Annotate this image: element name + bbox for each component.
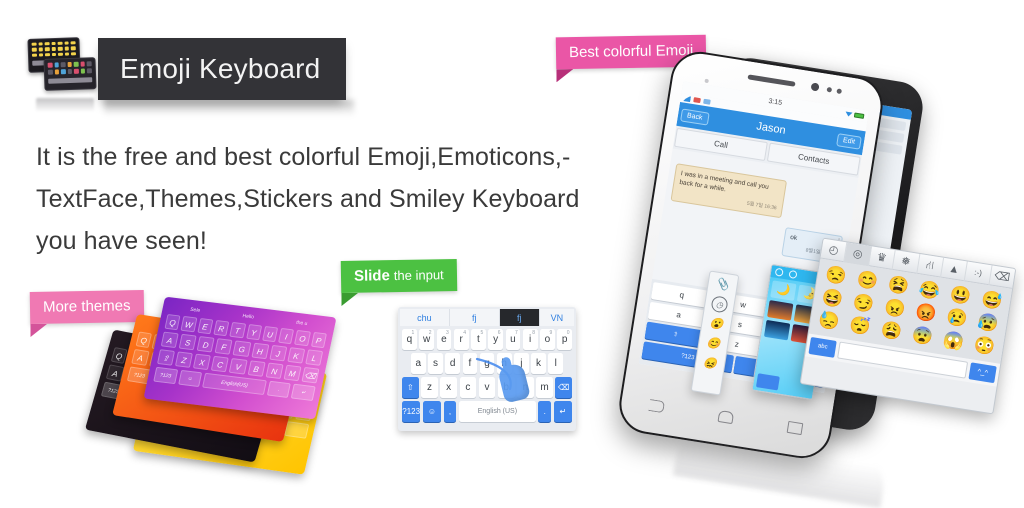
suggestion-vn[interactable]: VN (540, 309, 574, 326)
theme-key[interactable]: J (269, 345, 287, 362)
theme-key[interactable]: ↵ (291, 384, 316, 401)
theme-key[interactable]: G (233, 340, 251, 357)
ribbon-slide-the-input: Slide the input (341, 259, 457, 293)
sticker-abc-button[interactable] (756, 373, 780, 390)
theme-key[interactable]: H (251, 343, 269, 360)
key-i[interactable]: 8i (523, 329, 538, 350)
emoji-cell[interactable]: 😊 (850, 268, 884, 295)
triangle-icon[interactable]: ▲ (941, 257, 968, 281)
suggestion-bar: chu fj fj VN (400, 309, 574, 326)
theme-key[interactable]: ☺ (178, 370, 203, 387)
clock-icon[interactable]: ◷ (710, 295, 728, 313)
key-label: t (477, 334, 480, 345)
abc-button[interactable]: abc (808, 337, 836, 358)
theme-key[interactable]: D (197, 336, 215, 353)
emoji-keyboard-panel[interactable]: ◴ ◎ ♛ ❅ ⛙ ▲ :-) ⌫ 😒 😊 😫 😂 😃 😅 😆 😏 😠 😡 😢 … (800, 238, 1017, 415)
key-l[interactable]: l (548, 353, 563, 374)
theme-key[interactable]: F (215, 338, 233, 355)
surprised-emoji-icon[interactable]: 😮 (707, 315, 725, 333)
recent-clock-icon[interactable]: ◴ (821, 238, 848, 262)
key-number: 3 (446, 330, 449, 336)
key-number: 6 (498, 330, 501, 336)
emoji-cell[interactable]: 😫 (882, 273, 916, 300)
key-o[interactable]: 9o (540, 329, 555, 350)
theme-key[interactable]: O (294, 330, 310, 346)
theme-key[interactable]: R (213, 320, 229, 336)
key-y[interactable]: 6y (488, 329, 503, 350)
home-nav-button[interactable] (717, 410, 734, 424)
ribbon-tail-icon (30, 324, 47, 337)
ribbon-tail-icon (341, 293, 358, 306)
key-number: 1 (411, 330, 414, 336)
promo-banner: Emoji Keyboard It is the free and best c… (0, 0, 1024, 500)
edit-button[interactable]: Edit (836, 133, 862, 150)
description-line-1: It is the free and best colorful Emoji,E… (36, 136, 636, 178)
description-block: It is the free and best colorful Emoji,E… (36, 136, 636, 262)
key-w[interactable]: 2w (419, 329, 434, 350)
page-title-text: Emoji Keyboard (120, 53, 320, 85)
ribbon-slide-label-sub: the input (394, 267, 444, 283)
theme-key[interactable]: A (131, 349, 150, 366)
key-a[interactable]: a (411, 353, 426, 374)
key-z[interactable]: z (421, 377, 438, 398)
ribbon-tail-icon (556, 69, 573, 82)
key-f[interactable]: f (463, 353, 478, 374)
period-key[interactable]: . (538, 401, 551, 422)
emoji-cell[interactable]: 😨 (906, 323, 940, 350)
emoji-cell[interactable]: 😠 (878, 295, 912, 322)
key-k[interactable]: k (531, 353, 546, 374)
emoji-cell[interactable]: 😰 (971, 310, 1005, 337)
ribbon-slide-label-main: Slide (354, 267, 390, 285)
emoji-cell[interactable]: 😴 (843, 313, 877, 340)
key-x[interactable]: x (440, 377, 457, 398)
key-number: 5 (480, 330, 483, 336)
theme-key[interactable]: E (197, 318, 213, 334)
theme-key[interactable]: P (311, 332, 327, 348)
sticker-cell-image[interactable] (764, 320, 790, 341)
message-text: ok (790, 234, 798, 242)
app-icon-keyboard-front (43, 57, 96, 91)
key-s[interactable]: s (428, 353, 443, 374)
emoji-cell[interactable]: 😒 (819, 263, 853, 290)
message-bubble-incoming: I was in a meeting and call you back for… (670, 163, 787, 218)
theme-key[interactable]: I (278, 328, 294, 344)
key-e[interactable]: 3e (437, 329, 452, 350)
notification-led (704, 79, 709, 84)
confounded-emoji-icon[interactable]: 😖 (701, 354, 719, 372)
theme-key[interactable]: V (229, 358, 247, 375)
smiley-face-icon[interactable]: ◎ (845, 242, 872, 266)
snowflake-icon[interactable]: ❅ (893, 250, 920, 274)
theme-suggestion: the u (296, 320, 308, 327)
message-text: I was in a meeting and call you back for… (679, 170, 769, 193)
page-title: Emoji Keyboard (98, 38, 346, 100)
front-camera-icon (811, 82, 820, 91)
theme-key[interactable]: N (265, 362, 283, 379)
theme-key[interactable]: U (262, 326, 278, 342)
theme-key[interactable]: T (229, 322, 245, 338)
theme-key[interactable]: Z (175, 351, 193, 368)
send-button[interactable]: ^_^ (968, 362, 996, 383)
key-r[interactable]: 4r (454, 329, 469, 350)
backspace-icon[interactable]: ⌫ (989, 265, 1015, 288)
theme-key[interactable]: W (181, 316, 197, 332)
suggestion-fj-selected[interactable]: fj (500, 309, 540, 326)
theme-key[interactable]: Y (246, 324, 262, 340)
description-line-2: TextFace,Themes,Stickers and Smiley Keyb… (36, 178, 636, 220)
theme-key[interactable]: L (305, 349, 323, 366)
smile-emoji-icon[interactable]: 😊 (704, 335, 722, 353)
key-number: 9 (549, 330, 552, 336)
slide-input-keyboard[interactable]: chu fj fj VN 1q 2w 3e 4r 5t 6y 7u 8i 9o … (398, 307, 576, 431)
key-number: 4 (463, 330, 466, 336)
emoji-cell[interactable]: 😱 (937, 328, 971, 355)
backspace-key[interactable]: ⌫ (555, 377, 572, 398)
emoji-cell[interactable]: 😓 (812, 308, 846, 335)
emoji-cell[interactable]: 😅 (975, 288, 1009, 315)
theme-key[interactable]: ⌫ (301, 367, 319, 384)
comma-key[interactable]: , (444, 401, 457, 422)
emoji-cell[interactable]: 😢 (940, 305, 974, 332)
smiley-tab-icon[interactable] (788, 270, 797, 279)
theme-key[interactable]: ?123 (153, 367, 178, 384)
status-bar-time: 3:15 (768, 97, 783, 106)
theme-key[interactable]: A (161, 332, 179, 349)
emoji-cell[interactable]: 😆 (816, 286, 850, 313)
recents-nav-button[interactable] (786, 421, 803, 435)
theme-key[interactable]: Q (136, 331, 153, 348)
sticker-cell[interactable]: 🌙 (770, 280, 796, 301)
emoji-cell[interactable]: 😂 (913, 278, 947, 305)
key-number: 0 (567, 330, 570, 336)
key-c[interactable]: c (460, 377, 477, 398)
purple-theme-keyboard[interactable]: Sele Hello the u Q W E R T Y U I O P (144, 297, 337, 420)
theme-suggestion: Hello (242, 313, 255, 320)
ribbon-best-label: Best colorful Emoji (569, 42, 693, 61)
theme-key[interactable]: M (283, 365, 301, 382)
theme-key[interactable]: Q (164, 314, 180, 330)
clock-tab-icon[interactable] (775, 268, 784, 277)
proximity-sensor-icon (826, 87, 832, 93)
earpiece-speaker (747, 74, 795, 86)
car-icon[interactable]: ⛙ (917, 253, 944, 277)
theme-key[interactable]: S (179, 334, 197, 351)
key-p[interactable]: 0p (557, 329, 572, 350)
key-number: 7 (515, 330, 518, 336)
sticker-cell-image[interactable] (767, 300, 793, 321)
key-v[interactable]: v (479, 377, 496, 398)
textface-icon[interactable]: :-) (965, 261, 992, 285)
key-number: 2 (429, 330, 432, 336)
light-sensor-icon (836, 88, 842, 94)
theme-key[interactable]: . (266, 381, 291, 398)
message-timestamp: 5월 7일 16:36 (677, 189, 777, 214)
emoji-cell[interactable]: 😏 (847, 291, 881, 318)
crown-icon[interactable]: ♛ (869, 246, 896, 270)
key-label: i (529, 334, 531, 345)
battery-icon (854, 112, 865, 119)
theme-suggestion: Sele (190, 307, 201, 314)
notification-icon (693, 97, 701, 103)
sync-icon (703, 99, 711, 105)
signal-icon (683, 95, 691, 102)
key-q[interactable]: 1q (402, 329, 417, 350)
key-m[interactable]: m (536, 377, 553, 398)
description-line-3: you have seen! (36, 220, 636, 262)
enter-key[interactable]: ↵ (554, 401, 572, 422)
emoji-cell[interactable]: 😳 (968, 333, 1002, 360)
emoji-key[interactable]: ☺ (423, 401, 441, 422)
spacebar[interactable]: English (US) (459, 401, 536, 422)
theme-key[interactable]: ⇧ (157, 349, 175, 366)
suggestion-fj[interactable]: fj (450, 309, 500, 326)
key-u[interactable]: 7u (506, 329, 521, 350)
theme-key[interactable]: X (193, 354, 211, 371)
key-g[interactable]: g (480, 353, 495, 374)
key-t[interactable]: 5t (471, 329, 486, 350)
suggestion-chu[interactable]: chu (400, 309, 450, 326)
key-d[interactable]: d (445, 353, 460, 374)
emoji-cell[interactable]: 😃 (944, 283, 978, 310)
shift-key[interactable]: ⇧ (402, 377, 419, 398)
wifi-icon (845, 110, 853, 117)
back-nav-button[interactable] (648, 399, 665, 413)
app-icon-reflection (36, 98, 94, 112)
symbols-key[interactable]: ?123 (402, 401, 420, 422)
emoji-keyboard-app-icon (26, 36, 98, 102)
theme-keyboards-fan: Sele Hello the u Sele Hello the u Q W E (96, 300, 306, 450)
title-plate-shadow (104, 100, 354, 116)
key-number: 8 (532, 330, 535, 336)
emoji-cell[interactable]: 😡 (909, 300, 943, 327)
theme-key[interactable]: K (287, 347, 305, 364)
theme-key[interactable]: B (247, 360, 265, 377)
theme-key[interactable]: C (211, 356, 229, 373)
back-button[interactable]: Back (680, 108, 709, 125)
emoji-cell[interactable]: 😩 (874, 318, 908, 345)
paperclip-icon[interactable]: 📎 (714, 275, 732, 293)
